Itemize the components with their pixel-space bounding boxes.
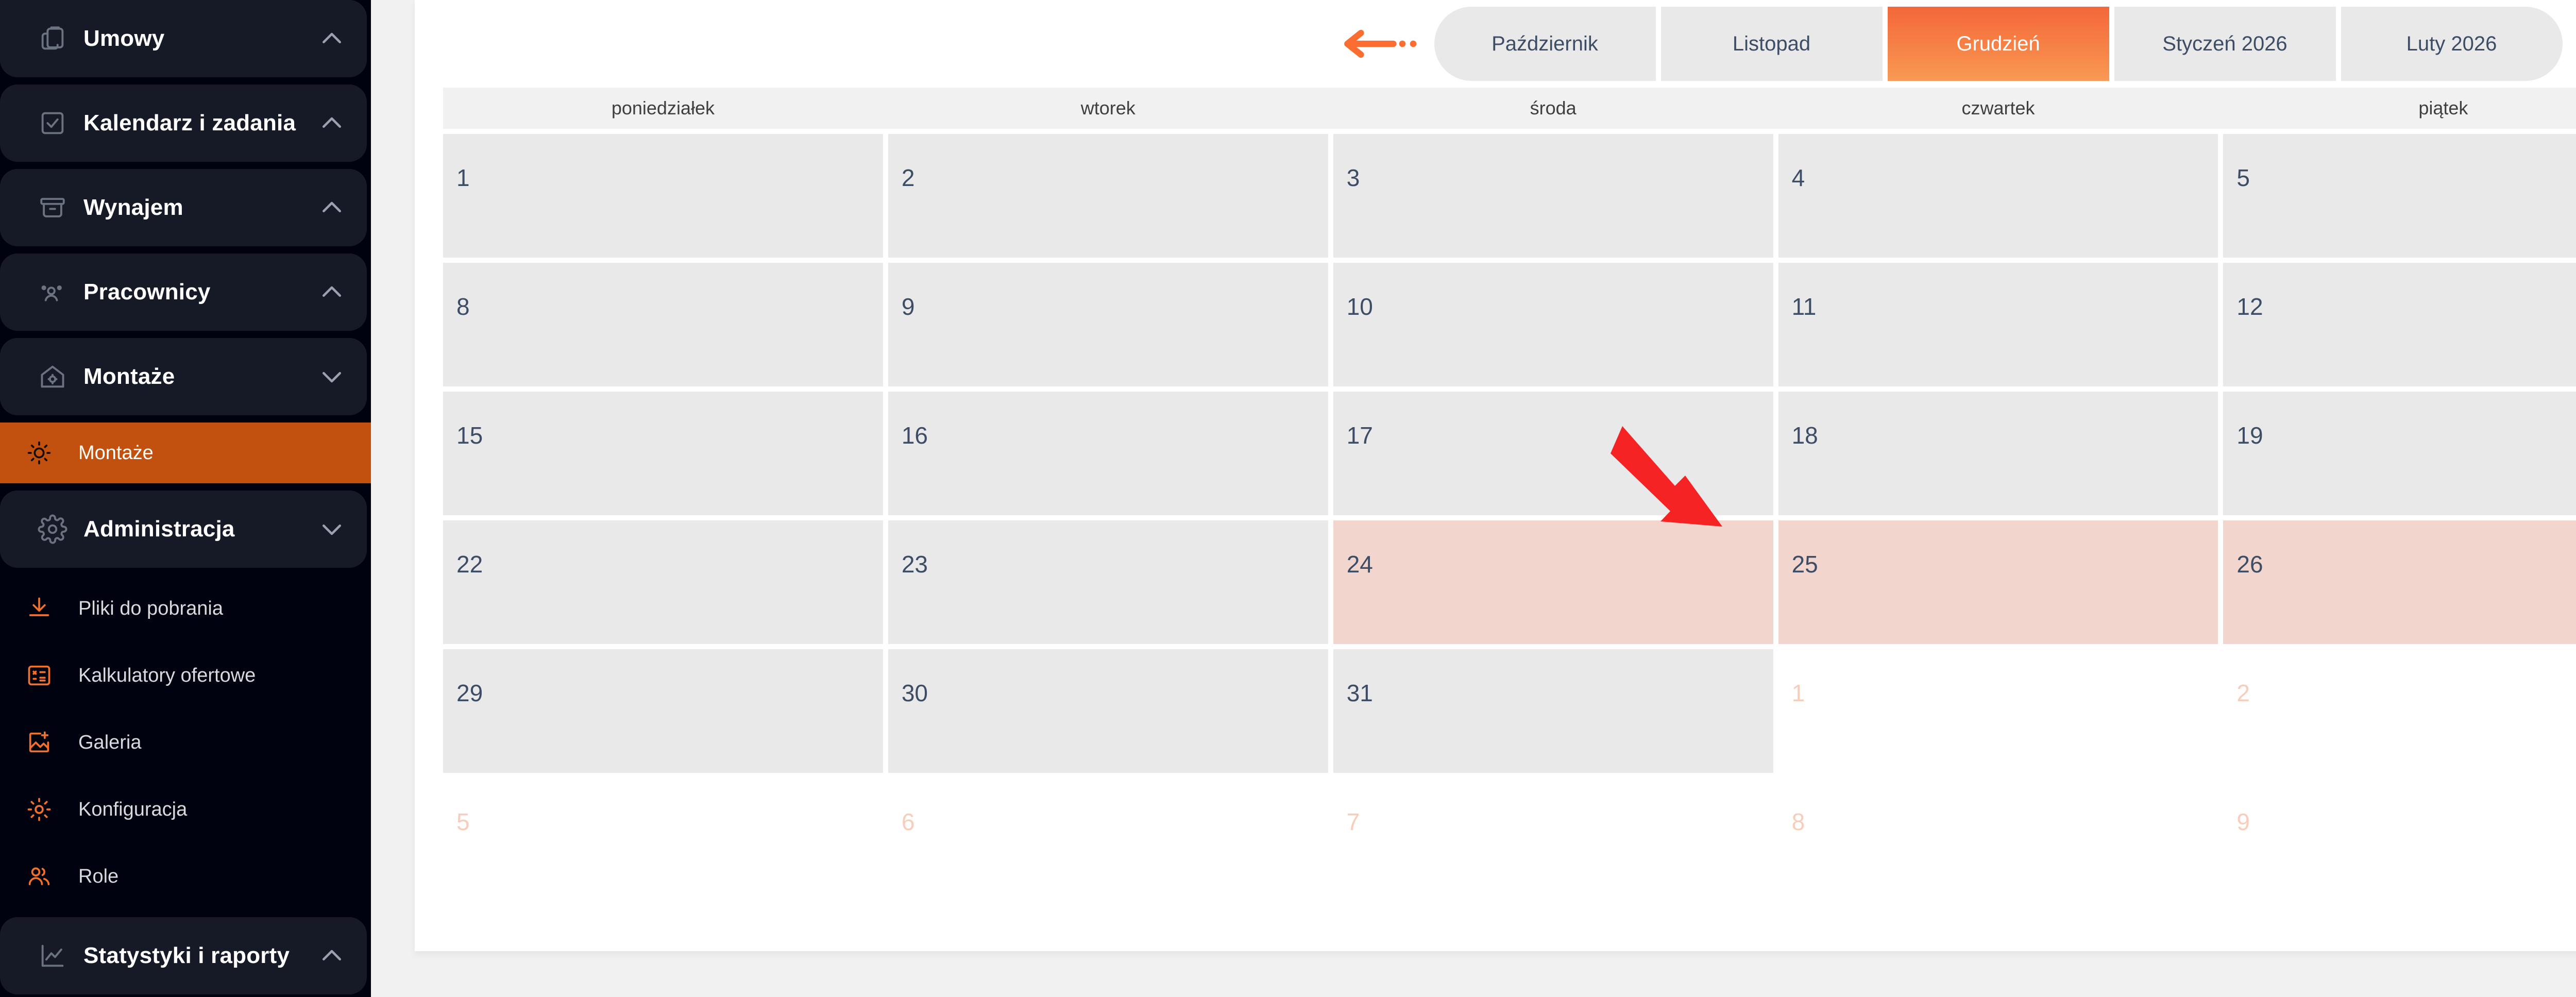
sidebar-group-label: Statystyki i raporty — [69, 943, 316, 969]
calendar-day-cell[interactable]: 15 — [443, 392, 883, 515]
calendar-day-number: 24 — [1347, 552, 1373, 576]
weekday-sroda: środa — [1333, 88, 1773, 129]
month-tab-label: Styczeń 2026 — [2162, 32, 2287, 56]
calendar-day-cell[interactable]: 16 — [888, 392, 1328, 515]
sidebar-group-wynajem[interactable]: Wynajem — [0, 169, 367, 246]
calendar-day-number: 7 — [1347, 810, 1360, 834]
sidebar-group-administracja[interactable]: Administracja — [0, 491, 367, 568]
calendar-day-cell[interactable]: 1 — [443, 134, 883, 258]
chevron-down-icon[interactable] — [316, 514, 347, 545]
month-tabs: Październik Listopad Grudzień Styczeń 20… — [1434, 7, 2563, 81]
sidebar-group-label: Administracja — [69, 516, 316, 542]
calendar-day-cell[interactable]: 12 — [2223, 263, 2576, 386]
calendar-day-cell[interactable]: 29 — [443, 649, 883, 773]
calendar-day-number: 12 — [2236, 295, 2263, 318]
sun-icon — [25, 438, 54, 467]
calendar-day-number: 31 — [1347, 681, 1373, 705]
calendar-day-cell[interactable]: 5 — [443, 778, 883, 902]
app-root: Umowy Kalendarz i zadania — [0, 0, 2576, 997]
calendar-day-cell[interactable]: 1 — [1778, 649, 2218, 773]
month-tab-pazdziernik[interactable]: Październik — [1434, 7, 1656, 81]
calendar-day-cell[interactable]: 23 — [888, 520, 1328, 644]
sidebar-item-kalkulatory-ofertowe[interactable]: Kalkulatory ofertowe — [0, 642, 371, 709]
contracts-icon — [36, 22, 69, 55]
calendar-day-number: 8 — [1792, 810, 1805, 834]
chevron-up-icon[interactable] — [316, 277, 347, 308]
calendar-day-cell[interactable]: 3 — [1333, 134, 1773, 258]
calendar-day-number: 1 — [456, 166, 470, 190]
calendar-day-number: 19 — [2236, 424, 2263, 447]
calendar-day-number: 1 — [1792, 681, 1805, 705]
house-gear-icon — [36, 360, 69, 393]
calendar-day-number: 30 — [902, 681, 928, 705]
calendar-day-cell[interactable]: 2 — [888, 134, 1328, 258]
calendar-day-cell[interactable]: 5 — [2223, 134, 2576, 258]
month-tab-label: Listopad — [1733, 32, 1810, 56]
sidebar-item-pliki-do-pobrania[interactable]: Pliki do pobrania — [0, 575, 371, 642]
users-icon — [25, 862, 54, 891]
chevron-up-icon[interactable] — [316, 192, 347, 223]
sidebar-item-label: Galeria — [54, 732, 142, 754]
calendar-day-number: 8 — [456, 295, 470, 318]
month-tab-label: Październik — [1492, 32, 1598, 56]
calendar: poniedziałek wtorek środa czwartek piąte… — [415, 88, 2576, 902]
calendar-day-number: 6 — [902, 810, 915, 834]
weekday-czwartek: czwartek — [1778, 88, 2218, 129]
sidebar-item-label: Montaże — [54, 442, 154, 464]
sidebar-item-konfiguracja[interactable]: Konfiguracja — [0, 776, 371, 843]
sidebar-group-label: Wynajem — [69, 195, 316, 221]
chevron-down-icon[interactable] — [316, 361, 347, 392]
sidebar-group-label: Pracownicy — [69, 279, 316, 305]
sidebar-item-label: Pliki do pobrania — [54, 598, 223, 620]
month-tab-listopad[interactable]: Listopad — [1661, 7, 1883, 81]
sidebar: Umowy Kalendarz i zadania — [0, 0, 371, 997]
sidebar-group-label: Umowy — [69, 26, 316, 52]
calendar-day-number: 23 — [902, 552, 928, 576]
download-icon — [25, 594, 54, 623]
calendar-day-cell[interactable]: 19 — [2223, 392, 2576, 515]
month-switcher: Październik Listopad Grudzień Styczeń 20… — [415, 0, 2576, 88]
calendar-day-number: 4 — [1792, 166, 1805, 190]
sidebar-item-label: Kalkulatory ofertowe — [54, 665, 256, 687]
month-tab-luty-2026[interactable]: Luty 2026 — [2341, 7, 2563, 81]
calendar-weekday-header: poniedziałek wtorek środa czwartek piąte… — [443, 88, 2576, 129]
calendar-day-cell[interactable]: 31 — [1333, 649, 1773, 773]
chevron-up-icon[interactable] — [316, 940, 347, 971]
main-content: Październik Listopad Grudzień Styczeń 20… — [371, 0, 2576, 997]
month-tab-label: Luty 2026 — [2406, 32, 2497, 56]
calculator-icon — [25, 661, 54, 690]
sidebar-item-role[interactable]: Role — [0, 843, 371, 910]
calendar-panel: Październik Listopad Grudzień Styczeń 20… — [415, 0, 2576, 951]
sidebar-item-galeria[interactable]: Galeria — [0, 709, 371, 776]
calendar-day-cell[interactable]: 4 — [1778, 134, 2218, 258]
arrow-left-dotted-icon[interactable] — [1331, 23, 1434, 64]
calendar-day-cell[interactable]: 11 — [1778, 263, 2218, 386]
sidebar-group-montaze[interactable]: Montaże — [0, 338, 367, 415]
calendar-day-number: 9 — [902, 295, 915, 318]
calendar-day-number: 26 — [2236, 552, 2263, 576]
sidebar-group-label: Montaże — [69, 364, 316, 390]
sidebar-item-label: Role — [54, 866, 118, 888]
calendar-day-cell[interactable]: 26 — [2223, 520, 2576, 644]
sidebar-item-label: Konfiguracja — [54, 799, 187, 821]
weekday-wtorek: wtorek — [888, 88, 1328, 129]
calendar-day-number: 25 — [1792, 552, 1818, 576]
calendar-day-cell[interactable]: 30 — [888, 649, 1328, 773]
calendar-day-number: 10 — [1347, 295, 1373, 318]
sidebar-item-montaze-active[interactable]: Montaże — [0, 423, 371, 483]
calendar-day-number: 5 — [456, 810, 470, 834]
sidebar-group-statystyki-i-raporty[interactable]: Statystyki i raporty — [0, 917, 367, 994]
people-icon — [36, 276, 69, 309]
calendar-day-cell[interactable]: 17 — [1333, 392, 1773, 515]
calendar-day-cell[interactable]: 22 — [443, 520, 883, 644]
sidebar-group-pracownicy[interactable]: Pracownicy — [0, 254, 367, 331]
month-tab-label: Grudzień — [1956, 32, 2040, 56]
gear-icon — [36, 513, 69, 546]
calendar-day-cell[interactable]: 8 — [443, 263, 883, 386]
calendar-day-cell[interactable]: 8 — [1778, 778, 2218, 902]
sidebar-group-umowy[interactable]: Umowy — [0, 0, 367, 77]
calendar-day-cell[interactable]: 9 — [888, 263, 1328, 386]
calendar-day-number: 22 — [456, 552, 483, 576]
checkbox-icon — [36, 107, 69, 140]
calendar-day-number: 2 — [2236, 681, 2250, 705]
month-tab-grudzien[interactable]: Grudzień — [1888, 7, 2109, 81]
calendar-day-cell[interactable]: 18 — [1778, 392, 2218, 515]
calendar-day-number: 5 — [2236, 166, 2250, 190]
calendar-day-cell[interactable]: 9 — [2223, 778, 2576, 902]
calendar-day-number: 11 — [1792, 295, 1817, 318]
calendar-grid: 1234567891011121314151617181920212223242… — [443, 134, 2576, 902]
calendar-day-number: 3 — [1347, 166, 1360, 190]
arrow-right-dotted-icon[interactable] — [2563, 23, 2576, 64]
sidebar-group-kalendarz-i-zadania[interactable]: Kalendarz i zadania — [0, 85, 367, 162]
calendar-day-number: 16 — [902, 424, 928, 447]
calendar-day-cell[interactable]: 2 — [2223, 649, 2576, 773]
calendar-day-number: 18 — [1792, 424, 1818, 447]
gear-icon — [25, 795, 54, 824]
chevron-up-icon[interactable] — [316, 108, 347, 139]
calendar-day-cell[interactable]: 25 — [1778, 520, 2218, 644]
chevron-up-icon[interactable] — [316, 23, 347, 54]
chart-line-icon — [36, 939, 69, 972]
weekday-poniedzialek: poniedziałek — [443, 88, 883, 129]
month-tab-styczen-2026[interactable]: Styczeń 2026 — [2114, 7, 2336, 81]
calendar-day-number: 2 — [902, 166, 915, 190]
calendar-day-number: 29 — [456, 681, 483, 705]
calendar-day-number: 17 — [1347, 424, 1373, 447]
calendar-day-cell[interactable]: 7 — [1333, 778, 1773, 902]
weekday-piatek: piątek — [2223, 88, 2576, 129]
calendar-day-number: 9 — [2236, 810, 2250, 834]
calendar-day-cell[interactable]: 10 — [1333, 263, 1773, 386]
calendar-day-cell[interactable]: 6 — [888, 778, 1328, 902]
image-plus-icon — [25, 728, 54, 757]
calendar-day-number: 15 — [456, 424, 483, 447]
box-icon — [36, 191, 69, 224]
calendar-day-cell[interactable]: 24 — [1333, 520, 1773, 644]
sidebar-group-label: Kalendarz i zadania — [69, 110, 316, 136]
